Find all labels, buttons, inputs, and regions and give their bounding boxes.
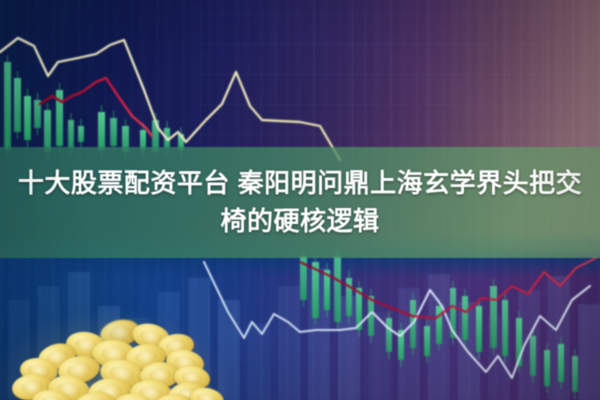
banner-image: 十大股票配资平台 秦阳明问鼎上海玄学界头把交 椅的硬核逻辑 [0,0,600,400]
